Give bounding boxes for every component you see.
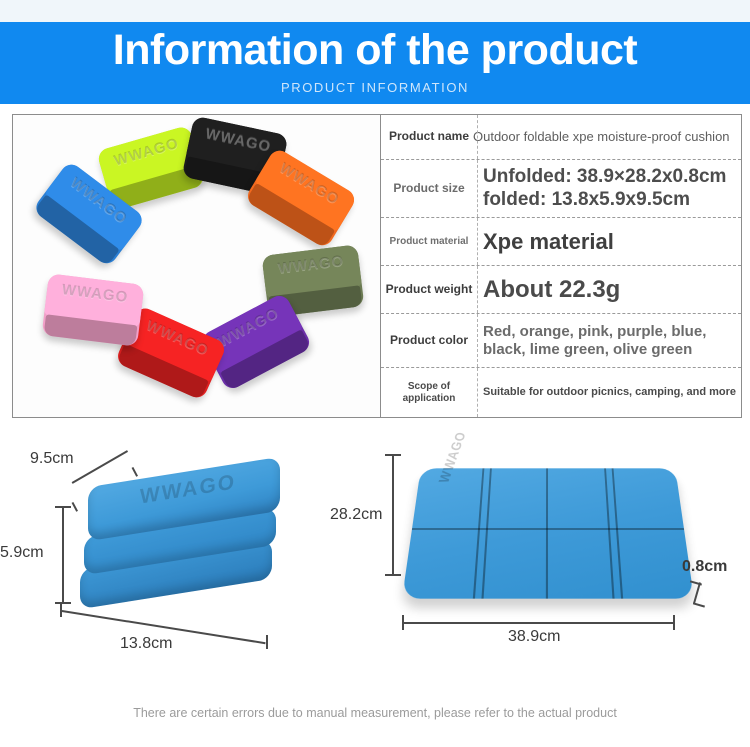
spec-table: Product name Outdoor foldable xpe moistu… [381, 115, 741, 417]
row-label: Scope of application [381, 381, 477, 404]
row-label: Product weight [381, 283, 477, 297]
table-row-product-material: Product material Xpe material [381, 218, 741, 266]
unfolded-mat: WWAGO [402, 468, 694, 598]
cushion-pink: WWAGO [42, 273, 145, 346]
depth-tick-right [132, 467, 138, 477]
mat-height-line [392, 454, 394, 576]
unfolded-emboss-label: WWAGO [436, 431, 469, 485]
table-row-product-size: Product size Unfolded: 38.9×28.2x0.8cm f… [381, 160, 741, 218]
unfolded-product-diagram: WWAGO 28.2cm 38.9cm 0.8cm [360, 430, 750, 695]
column-divider [477, 266, 478, 313]
row-value: Unfolded: 38.9×28.2x0.8cm folded: 13.8x5… [477, 166, 741, 210]
depth-tick-left [72, 502, 78, 512]
column-divider [477, 368, 478, 417]
unfolded-thickness-label: 0.8cm [682, 558, 727, 576]
cushion-ring: WWAGO WWAGO WWAGO WWAGO WWAGO [13, 115, 381, 417]
row-value: About 22.3g [477, 276, 741, 304]
table-row-product-name: Product name Outdoor foldable xpe moistu… [381, 115, 741, 160]
mat-width-line [402, 622, 674, 624]
width-tick-left [60, 603, 62, 617]
table-row-product-weight: Product weight About 22.3g [381, 266, 741, 314]
unfolded-height-label: 28.2cm [330, 506, 382, 524]
page-title: Information of the product [0, 24, 750, 76]
row-label: Product name [381, 130, 477, 144]
header-banner: Information of the product PRODUCT INFOR… [0, 22, 750, 104]
crease-vertical-left-2 [481, 468, 491, 598]
mat-thickness-tick-top [690, 580, 702, 585]
measurement-disclaimer: There are certain errors due to manual m… [0, 706, 750, 720]
product-info-panel: WWAGO WWAGO WWAGO WWAGO WWAGO [12, 114, 742, 418]
product-photo: WWAGO WWAGO WWAGO WWAGO WWAGO [13, 115, 381, 417]
mat-thickness-tick-bottom [693, 602, 705, 607]
folded-width-label: 13.8cm [120, 635, 172, 653]
table-row-product-color: Product color Red, orange, pink, purple,… [381, 314, 741, 368]
unfolded-width-label: 38.9cm [508, 628, 560, 646]
folded-product-diagram: WWAGO 9.5cm 5.9cm 13.8cm [0, 430, 360, 695]
folded-height-label: 5.9cm [0, 544, 44, 562]
dimension-diagrams: WWAGO 9.5cm 5.9cm 13.8cm WWAGO [0, 430, 750, 695]
mat-thickness-line [693, 582, 701, 604]
mat-height-tick-bottom [385, 574, 401, 576]
row-label: Product size [381, 182, 477, 196]
folded-depth-label: 9.5cm [30, 450, 74, 468]
width-tick-right [266, 635, 268, 649]
page-subtitle: PRODUCT INFORMATION [0, 80, 750, 96]
row-label: Product color [381, 334, 477, 348]
row-value: Outdoor foldable xpe moisture-proof cush… [473, 129, 741, 144]
mat-width-tick-right [673, 615, 675, 630]
top-strip [0, 0, 750, 22]
row-value: Xpe material [477, 229, 741, 255]
table-row-scope-of-application: Scope of application Suitable for outdoo… [381, 368, 741, 417]
depth-arrow-line [72, 450, 128, 483]
row-value: Red, orange, pink, purple, blue, black, … [477, 323, 741, 358]
row-value: Suitable for outdoor picnics, camping, a… [477, 386, 741, 399]
row-label: Product material [381, 236, 477, 248]
column-divider [477, 160, 478, 217]
crease-vertical-center [546, 468, 548, 598]
crease-horizontal-center [412, 528, 684, 529]
height-arrow-line [62, 506, 64, 604]
height-tick-bottom [55, 602, 71, 604]
column-divider [477, 115, 478, 159]
mat-height-tick-top [385, 454, 401, 456]
column-divider [477, 314, 478, 367]
height-tick-top [55, 506, 71, 508]
column-divider [477, 218, 478, 265]
mat-width-tick-left [402, 615, 404, 630]
